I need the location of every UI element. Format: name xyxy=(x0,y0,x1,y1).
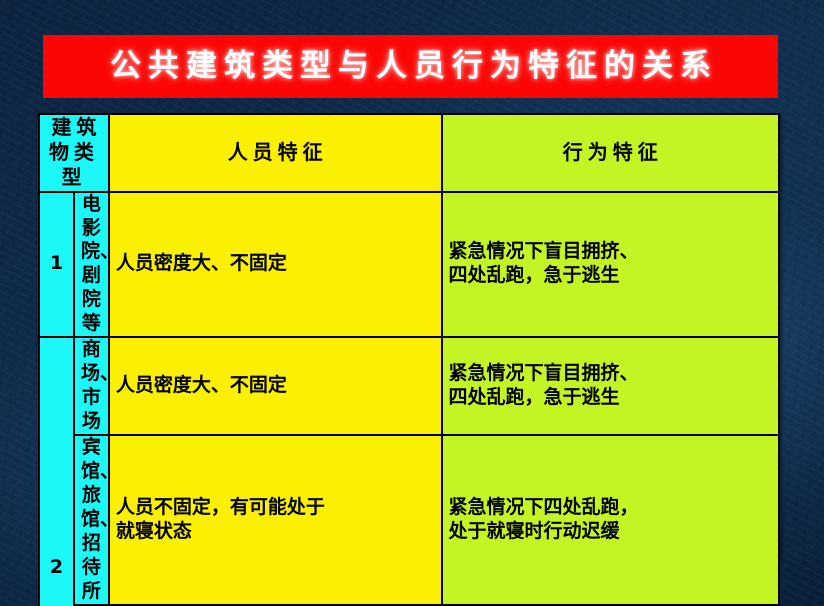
person-feature-cell: 人员密度大、不固定 xyxy=(109,192,442,338)
building-type-cell: 电影院、 剧院等 xyxy=(74,192,109,338)
behavior-feature-cell: 紧急情况下盲目拥挤、 四处乱跑，急于逃生 xyxy=(442,192,780,338)
cell-line: 商场、市场 xyxy=(81,338,102,434)
relationship-table-container: 建筑物类型 人员特征 行为特征 1 电影院、 剧院等 人员密度大、不固定 紧急 xyxy=(38,113,780,562)
cell-line: 招待所 xyxy=(81,532,102,604)
relationship-table: 建筑物类型 人员特征 行为特征 1 电影院、 剧院等 人员密度大、不固定 紧急 xyxy=(38,113,780,606)
cell-line: 宾馆、旅馆、 xyxy=(81,436,102,532)
row-number-cell: 1 xyxy=(39,192,74,338)
table-header-row: 建筑物类型 人员特征 行为特征 xyxy=(39,114,779,192)
person-feature-cell: 人员密度大、不固定 xyxy=(109,337,442,435)
table-row: 1 电影院、 剧院等 人员密度大、不固定 紧急情况下盲目拥挤、 四处乱跑，急于逃… xyxy=(39,192,779,338)
building-type-cell: 宾馆、旅馆、 招待所 xyxy=(74,435,109,605)
cell-line: 剧院等 xyxy=(81,264,102,336)
building-type-cell: 商场、市场 xyxy=(74,337,109,435)
cell-line: 人员密度大、不固定 xyxy=(116,252,435,276)
slide-canvas: 公共建筑类型与人员行为特征的关系 建筑物类型 人员特征 行为特征 1 电影院、 … xyxy=(0,0,824,606)
cell-line: 紧急情况下盲目拥挤、 xyxy=(449,240,773,264)
row-number-cell: 2 xyxy=(39,337,74,606)
column-header-behavior-feature: 行为特征 xyxy=(442,114,780,192)
table-body: 建筑物类型 人员特征 行为特征 1 电影院、 剧院等 人员密度大、不固定 紧急 xyxy=(39,114,779,606)
table-row: 宾馆、旅馆、 招待所 人员不固定，有可能处于 就寝状态 紧急情况下四处乱跑， 处… xyxy=(39,435,779,605)
cell-line: 电影院、 xyxy=(81,193,102,265)
cell-line: 人员不固定，有可能处于 xyxy=(116,496,435,520)
column-header-building-type: 建筑物类型 xyxy=(39,114,109,192)
cell-line: 四处乱跑，急于逃生 xyxy=(449,386,773,410)
table-row: 2 商场、市场 人员密度大、不固定 紧急情况下盲目拥挤、 四处乱跑，急于逃生 xyxy=(39,337,779,435)
cell-line: 紧急情况下盲目拥挤、 xyxy=(449,362,773,386)
cell-line: 紧急情况下四处乱跑， xyxy=(449,496,773,520)
column-header-person-feature: 人员特征 xyxy=(109,114,442,192)
cell-line: 就寝状态 xyxy=(116,520,435,544)
title-banner: 公共建筑类型与人员行为特征的关系 xyxy=(43,35,778,98)
cell-line: 人员密度大、不固定 xyxy=(116,374,435,398)
behavior-feature-cell: 紧急情况下盲目拥挤、 四处乱跑，急于逃生 xyxy=(442,337,780,435)
page-title: 公共建筑类型与人员行为特征的关系 xyxy=(103,51,718,82)
behavior-feature-cell: 紧急情况下四处乱跑， 处于就寝时行动迟缓 xyxy=(442,435,780,605)
cell-line: 处于就寝时行动迟缓 xyxy=(449,520,773,544)
person-feature-cell: 人员不固定，有可能处于 就寝状态 xyxy=(109,435,442,605)
cell-line: 四处乱跑，急于逃生 xyxy=(449,264,773,288)
